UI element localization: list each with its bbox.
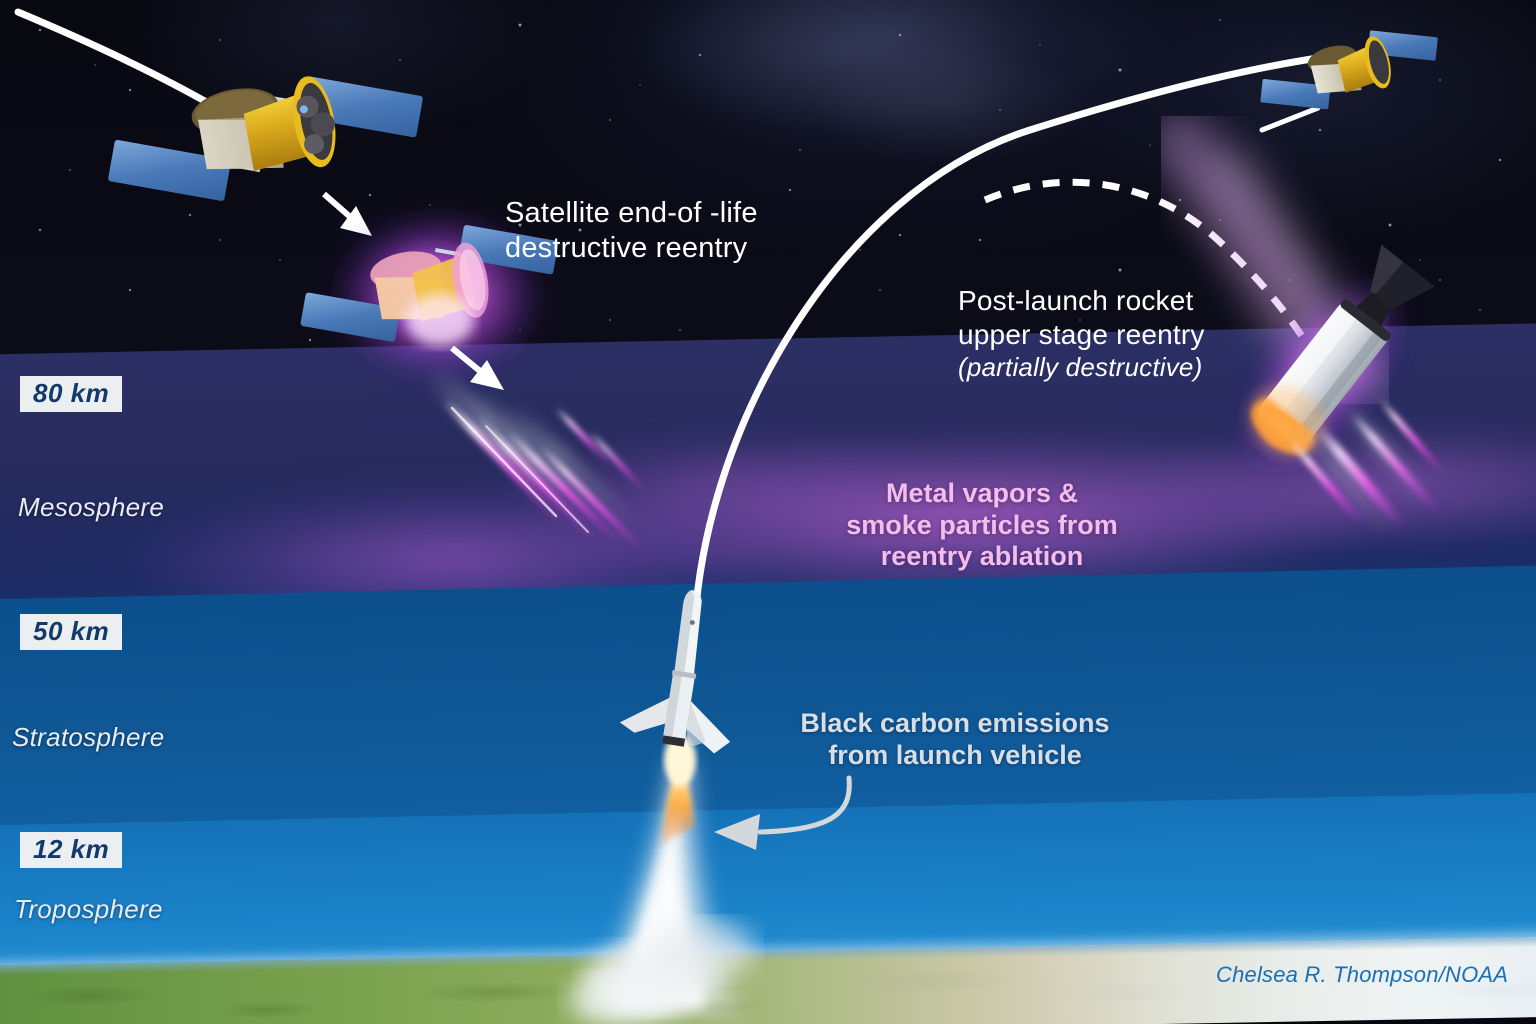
callout-satellite-reentry-line1: Satellite end-of -life (505, 196, 758, 231)
orbit-streak-right (1262, 108, 1318, 130)
callout-black-carbon-line2: from launch vehicle (790, 740, 1120, 772)
rocket-upper-stage (1180, 140, 1454, 534)
layer-label-troposphere: Troposphere (14, 894, 163, 925)
illustration-canvas: 80 km 50 km 12 km Mesosphere Stratospher… (0, 0, 1536, 1024)
callout-metal-vapors-line1: Metal vapors & (832, 478, 1132, 510)
orbit-entry-streak (18, 12, 210, 104)
layer-label-mesosphere: Mesosphere (18, 492, 164, 523)
satellite-orbit-right (1249, 5, 1448, 135)
callout-rocket-reentry-line1: Post-launch rocket (958, 284, 1205, 318)
callout-rocket-reentry-line3: (partially destructive) (958, 352, 1205, 384)
layer-label-stratosphere: Stratosphere (12, 722, 164, 753)
altitude-label-50km: 50 km (20, 614, 122, 650)
callout-satellite-reentry: Satellite end-of -life destructive reent… (505, 196, 758, 267)
callout-black-carbon-line1: Black carbon emissions (790, 708, 1120, 740)
launch-vehicle (568, 582, 754, 1024)
exhaust-plume (568, 760, 754, 1024)
callout-metal-vapors: Metal vapors & smoke particles from reen… (832, 478, 1132, 573)
callout-rocket-reentry: Post-launch rocket upper stage reentry (… (958, 284, 1205, 384)
altitude-label-12km: 12 km (20, 832, 122, 868)
callout-satellite-reentry-line2: destructive reentry (505, 231, 758, 266)
callout-metal-vapors-line3: reentry ablation (832, 541, 1132, 573)
black-carbon-arrow-shaft (760, 778, 849, 832)
callout-metal-vapors-line2: smoke particles from (832, 510, 1132, 542)
altitude-label-80km: 80 km (20, 376, 122, 412)
credit-line: Chelsea R. Thompson/NOAA (1216, 962, 1508, 988)
callout-rocket-reentry-line2: upper stage reentry (958, 318, 1205, 352)
black-carbon-arrow-head (714, 814, 760, 850)
callout-black-carbon: Black carbon emissions from launch vehic… (790, 708, 1120, 771)
satellite-reentry-streaks (430, 370, 646, 552)
satellite-intact-left (91, 28, 435, 234)
artwork-overlay (0, 0, 1536, 1024)
